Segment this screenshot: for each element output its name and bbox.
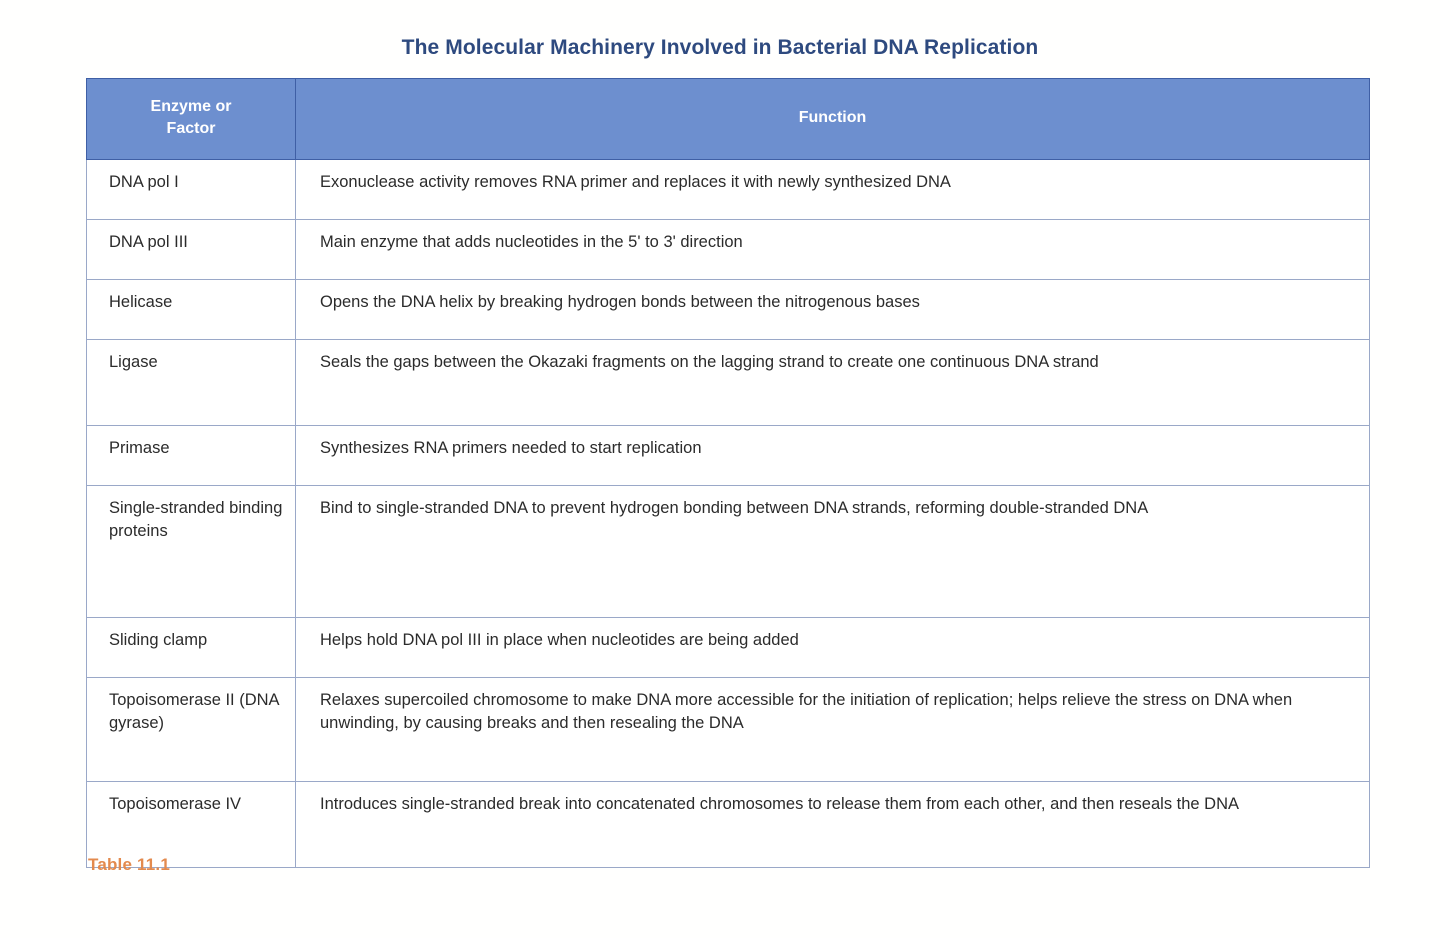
cell-enzyme: Single-stranded binding proteins <box>87 486 296 618</box>
cell-function: Seals the gaps between the Okazaki fragm… <box>296 340 1370 426</box>
cell-function: Synthesizes RNA primers needed to start … <box>296 426 1370 486</box>
table-container: Enzyme or Factor Function DNA pol I Exon… <box>86 78 1369 868</box>
table-row: Helicase Opens the DNA helix by breaking… <box>87 280 1370 340</box>
table-row: DNA pol III Main enzyme that adds nucleo… <box>87 220 1370 280</box>
table-body: DNA pol I Exonuclease activity removes R… <box>87 160 1370 868</box>
table-row: Primase Synthesizes RNA primers needed t… <box>87 426 1370 486</box>
table-header-row: Enzyme or Factor Function <box>87 79 1370 160</box>
page-root: The Molecular Machinery Involved in Bact… <box>0 0 1440 938</box>
cell-function: Helps hold DNA pol III in place when nuc… <box>296 618 1370 678</box>
cell-enzyme: DNA pol I <box>87 160 296 220</box>
cell-enzyme: Topoisomerase II (DNA gyrase) <box>87 678 296 782</box>
table-row: Topoisomerase II (DNA gyrase) Relaxes su… <box>87 678 1370 782</box>
cell-function: Main enzyme that adds nucleotides in the… <box>296 220 1370 280</box>
table-caption: Table 11.1 <box>88 855 170 875</box>
cell-enzyme: Sliding clamp <box>87 618 296 678</box>
cell-enzyme: Helicase <box>87 280 296 340</box>
table-row: Topoisomerase IV Introduces single-stran… <box>87 782 1370 868</box>
table-header: Enzyme or Factor Function <box>87 79 1370 160</box>
cell-function: Introduces single-stranded break into co… <box>296 782 1370 868</box>
cell-function: Exonuclease activity removes RNA primer … <box>296 160 1370 220</box>
cell-enzyme: DNA pol III <box>87 220 296 280</box>
cell-function: Opens the DNA helix by breaking hydrogen… <box>296 280 1370 340</box>
table-row: Ligase Seals the gaps between the Okazak… <box>87 340 1370 426</box>
table-row: DNA pol I Exonuclease activity removes R… <box>87 160 1370 220</box>
table-row: Single-stranded binding proteins Bind to… <box>87 486 1370 618</box>
column-header-enzyme-line1: Enzyme or <box>151 98 232 115</box>
column-header-enzyme: Enzyme or Factor <box>87 79 296 160</box>
column-header-function: Function <box>296 79 1370 160</box>
cell-function: Relaxes supercoiled chromosome to make D… <box>296 678 1370 782</box>
cell-function: Bind to single-stranded DNA to prevent h… <box>296 486 1370 618</box>
molecular-machinery-table: Enzyme or Factor Function DNA pol I Exon… <box>86 78 1370 868</box>
cell-enzyme: Ligase <box>87 340 296 426</box>
table-row: Sliding clamp Helps hold DNA pol III in … <box>87 618 1370 678</box>
cell-enzyme: Primase <box>87 426 296 486</box>
column-header-enzyme-line2: Factor <box>167 120 216 137</box>
page-title: The Molecular Machinery Involved in Bact… <box>0 36 1440 60</box>
